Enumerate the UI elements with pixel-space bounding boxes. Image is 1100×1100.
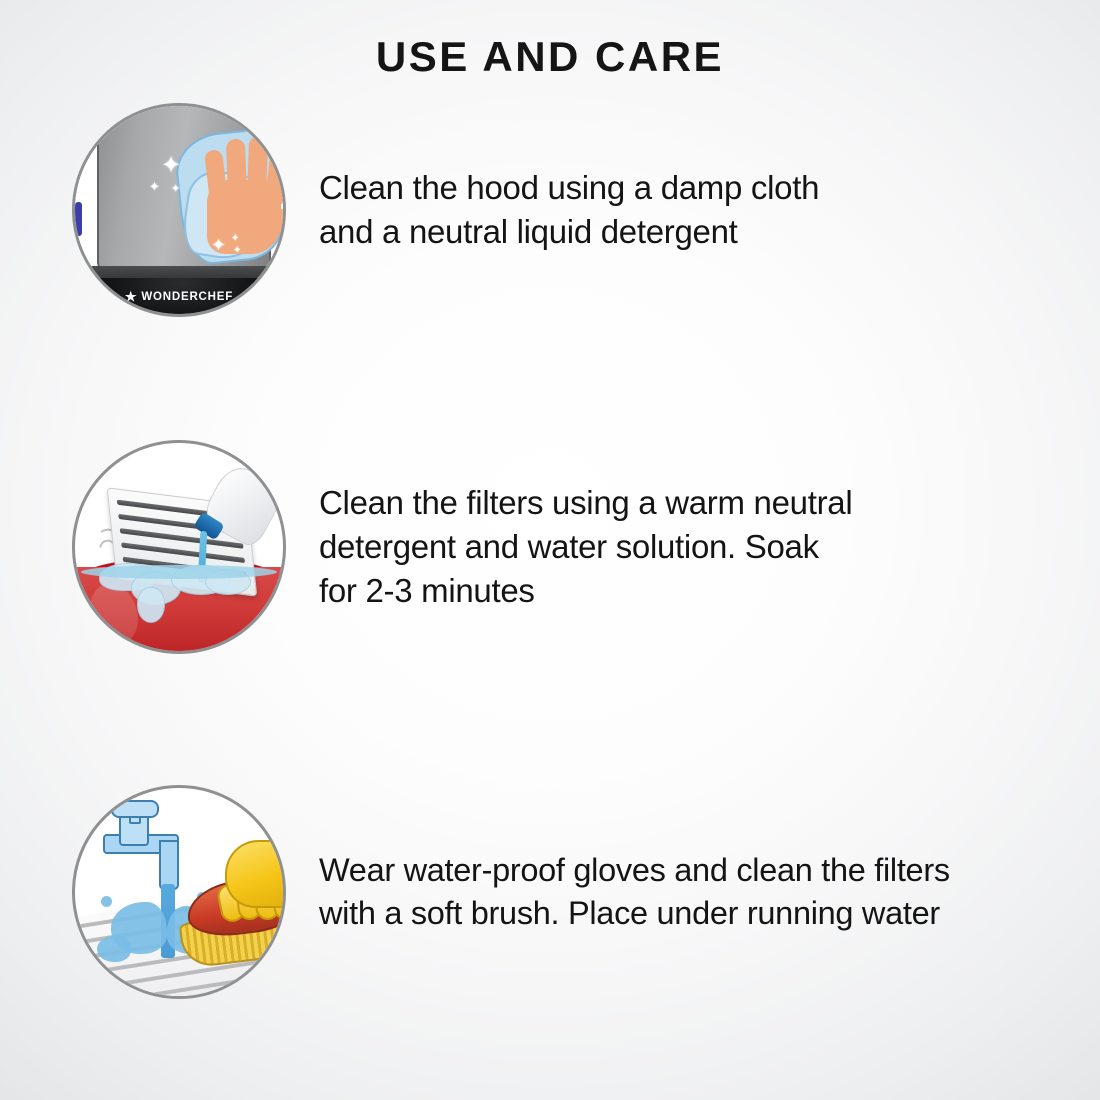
step-3-caption: Wear water-proof gloves and clean the fi… (319, 849, 950, 935)
care-step-1: ✦ ✦ ✦ ✦ ✦ ✦ ★WONDERCHEF Clean the hood u… (0, 103, 1100, 317)
brand-logo: ★WONDERCHEF (75, 289, 283, 305)
use-and-care-infographic: USE AND CARE ✦ ✦ ✦ ✦ (0, 0, 1100, 1100)
sparkle-icon: ✦ (149, 180, 160, 193)
hood-wiping-illustration: ✦ ✦ ✦ ✦ ✦ ✦ ★WONDERCHEF (75, 106, 283, 314)
faucet-spout (159, 840, 179, 890)
page-title: USE AND CARE (0, 33, 1100, 81)
sparkle-icon: ✦ (171, 184, 180, 195)
sparkle-icon: ✦ (231, 234, 239, 244)
step-1-caption: Clean the hood using a damp cloth and a … (319, 166, 819, 254)
soap-suds (137, 587, 165, 623)
step-2-illustration (72, 440, 286, 654)
hood-side-accent (75, 202, 82, 236)
sparkle-icon: ✦ (211, 236, 226, 254)
star-icon: ★ (125, 289, 137, 305)
brush-under-tap-illustration (75, 788, 283, 996)
water-droplet (101, 896, 112, 907)
water-splash (97, 936, 131, 962)
faucet-handle (111, 800, 159, 818)
basin-water-surface (81, 565, 277, 579)
brand-name: WONDERCHEF (141, 291, 233, 303)
care-step-3: Wear water-proof gloves and clean the fi… (0, 785, 1100, 999)
step-1-illustration: ✦ ✦ ✦ ✦ ✦ ✦ ★WONDERCHEF (72, 103, 286, 317)
step-2-caption: Clean the filters using a warm neutral d… (319, 481, 852, 613)
step-3-illustration (72, 785, 286, 999)
gloved-hand (225, 840, 286, 908)
sparkle-icon: ✦ (233, 246, 241, 256)
sparkle-icon: ✦ (161, 154, 181, 178)
care-step-2: Clean the filters using a warm neutral d… (0, 440, 1100, 654)
filter-soak-illustration (75, 443, 283, 651)
